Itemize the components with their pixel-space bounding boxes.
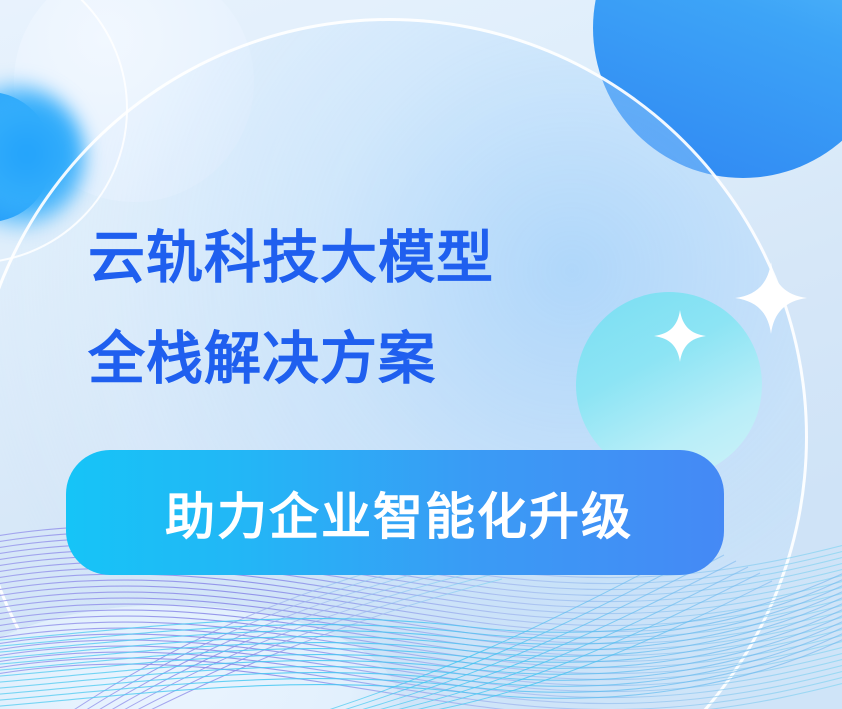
cta-button[interactable]: 助力企业智能化升级	[66, 450, 724, 575]
promo-banner: 云轨科技大模型 全栈解决方案 助力企业智能化升级	[0, 0, 842, 709]
headline-line-1: 云轨科技大模型	[88, 226, 494, 290]
page-title: 云轨科技大模型 全栈解决方案	[88, 230, 494, 388]
cta-button-label: 助力企业智能化升级	[165, 477, 633, 549]
banner-content: 云轨科技大模型 全栈解决方案 助力企业智能化升级	[0, 0, 842, 709]
headline-line-2: 全栈解决方案	[88, 331, 494, 388]
